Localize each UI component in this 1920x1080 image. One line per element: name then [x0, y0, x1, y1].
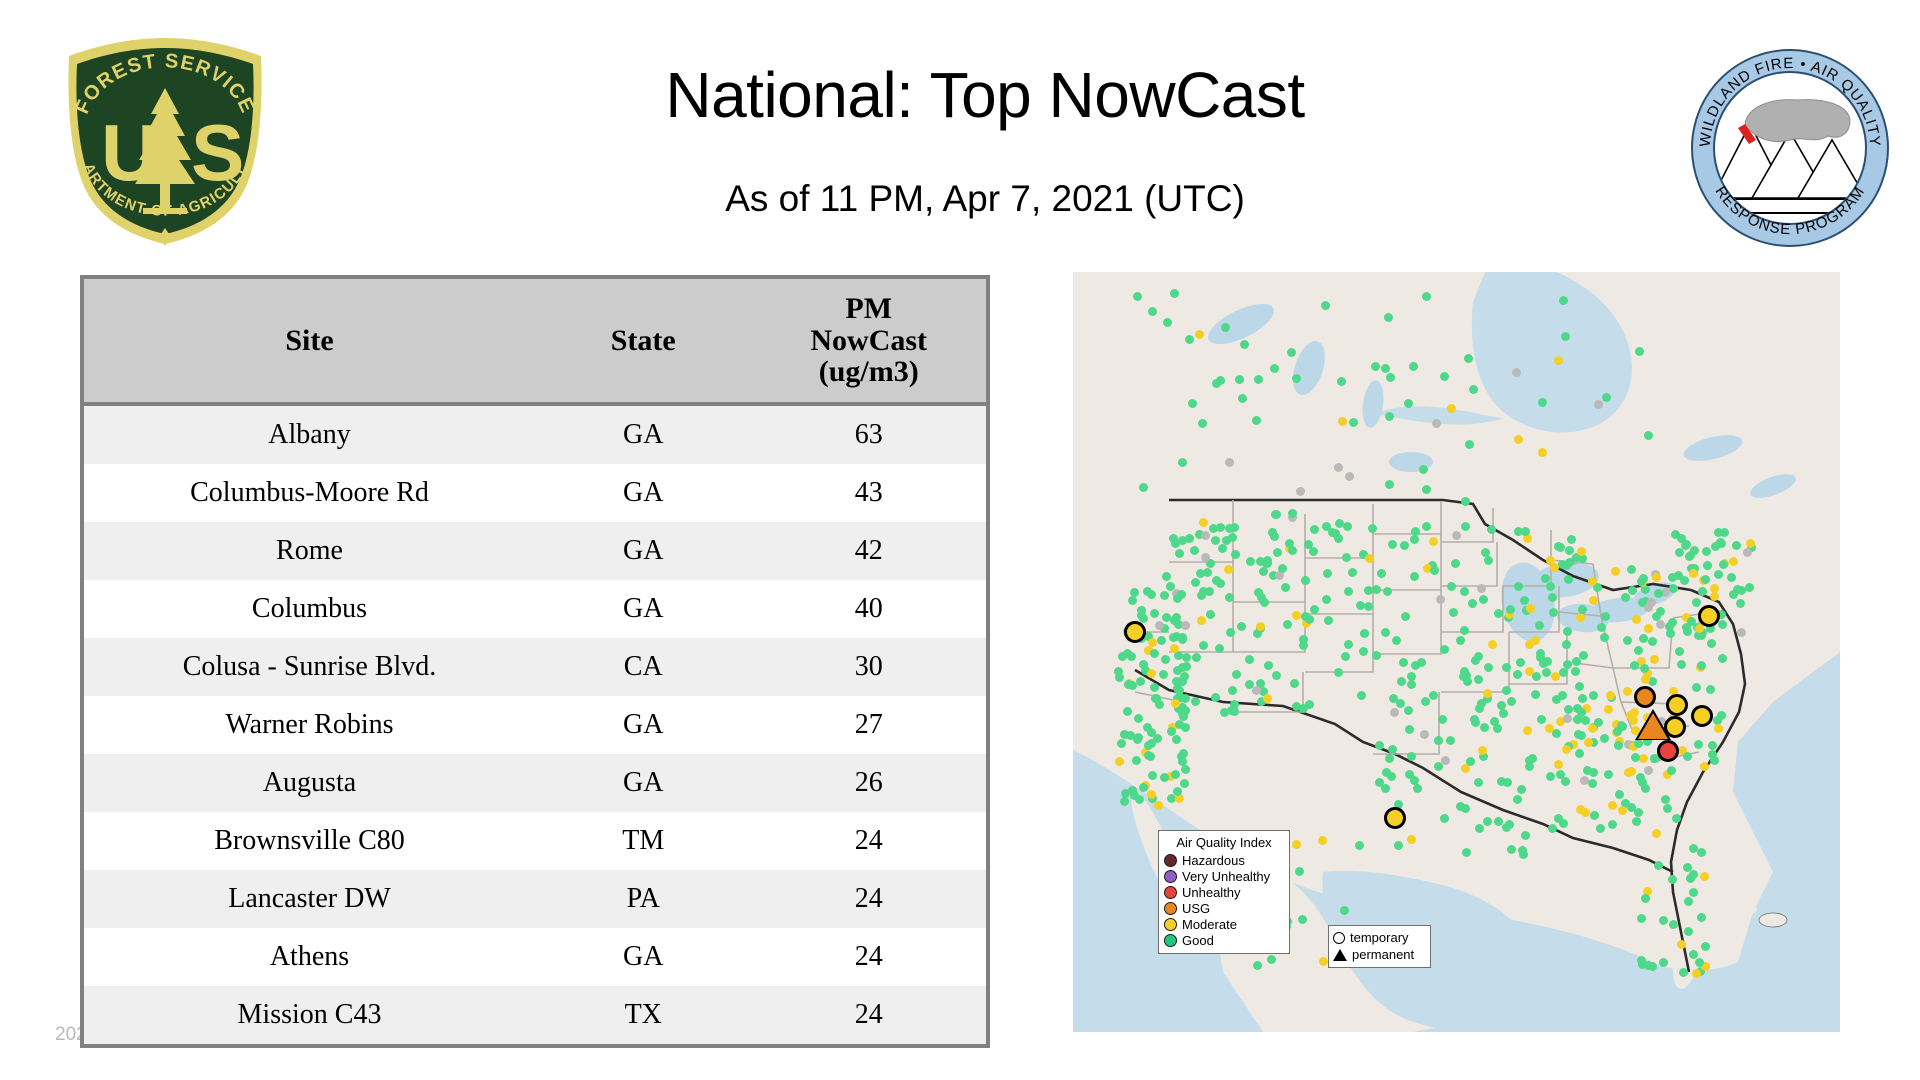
- aqi-swatch-icon: [1164, 934, 1177, 947]
- monitor-dot: [1700, 872, 1709, 881]
- monitor-dot: [1674, 571, 1683, 580]
- monitor-dot: [1689, 950, 1698, 959]
- monitor-dot: [1301, 612, 1310, 621]
- monitor-dot: [1565, 546, 1574, 555]
- monitor-dot: [1685, 552, 1694, 561]
- monitor-dot: [1461, 764, 1470, 773]
- monitor-dot: [1182, 662, 1191, 671]
- monitor-dot: [1516, 658, 1525, 667]
- monitor-dot: [1451, 559, 1460, 568]
- monitor-dot: [1181, 621, 1190, 630]
- monitor-dot: [1199, 518, 1208, 527]
- monitor-dot: [1381, 784, 1390, 793]
- monitor-dot: [1401, 612, 1410, 621]
- monitor-dot: [1562, 745, 1571, 754]
- monitor-dot: [1695, 958, 1704, 967]
- monitor-dot: [1285, 539, 1294, 548]
- monitor-dot: [1710, 592, 1719, 601]
- cell-site: Lancaster DW: [84, 870, 535, 928]
- monitor-dot: [1163, 318, 1172, 327]
- monitor-dot: [1571, 667, 1580, 676]
- monitor-dot: [1656, 620, 1665, 629]
- monitor-dot: [1394, 841, 1403, 850]
- monitor-dot: [1191, 697, 1200, 706]
- monitor-dot: [1388, 745, 1397, 754]
- aqi-legend-label: Very Unhealthy: [1182, 869, 1270, 884]
- monitor-dot: [1211, 536, 1220, 545]
- monitor-dot: [1228, 533, 1237, 542]
- table-row: AugustaGA26: [84, 754, 986, 812]
- monitor-dot: [1478, 746, 1487, 755]
- monitor-dot: [1167, 727, 1176, 736]
- cell-state: GA: [535, 580, 751, 638]
- monitor-dot: [1389, 694, 1398, 703]
- monitor-dot: [1203, 568, 1212, 577]
- monitor-dot: [1654, 861, 1663, 870]
- monitor-dot: [1288, 509, 1297, 518]
- monitor-dot: [1644, 624, 1653, 633]
- table-row: Colusa - Sunrise Blvd.CA30: [84, 638, 986, 696]
- monitor-dot: [1175, 720, 1184, 729]
- table-row: Brownsville C80TM24: [84, 812, 986, 870]
- monitor-dot: [1278, 564, 1287, 573]
- cell-pm-nowcast: 30: [751, 638, 986, 696]
- temporary-site-marker[interactable]: [1691, 705, 1713, 727]
- monitor-dot: [1606, 691, 1615, 700]
- monitor-dot: [1494, 817, 1503, 826]
- monitor-dot: [1372, 651, 1381, 660]
- monitor-dot: [1345, 472, 1354, 481]
- temporary-site-marker[interactable]: [1634, 686, 1656, 708]
- legend-row-temporary: temporary: [1333, 929, 1426, 946]
- monitor-dot: [1400, 541, 1409, 550]
- monitor-dot: [1434, 762, 1443, 771]
- monitor-dot: [1639, 634, 1648, 643]
- column-header-pm-line2: NowCast: [751, 325, 986, 357]
- monitor-dot: [1559, 668, 1568, 677]
- monitor-dot: [1669, 920, 1678, 929]
- monitor-dot: [1650, 655, 1659, 664]
- table-row: AlbanyGA63: [84, 404, 986, 464]
- monitor-dot: [1322, 522, 1331, 531]
- monitor-dot: [1597, 623, 1606, 632]
- table-row: AthensGA24: [84, 928, 986, 986]
- monitor-dot: [1237, 622, 1246, 631]
- monitor-dot: [1399, 658, 1408, 667]
- monitor-dot: [1139, 660, 1148, 669]
- temporary-site-marker[interactable]: [1664, 716, 1686, 738]
- cell-state: GA: [535, 928, 751, 986]
- cell-pm-nowcast: 24: [751, 928, 986, 986]
- monitor-dot: [1267, 955, 1276, 964]
- monitor-dot: [1714, 570, 1723, 579]
- monitor-dot: [1136, 677, 1145, 686]
- monitor-dot: [1344, 587, 1353, 596]
- monitor-dot: [1703, 561, 1712, 570]
- monitor-dot: [1490, 717, 1499, 726]
- aqi-swatch-icon: [1164, 854, 1177, 867]
- monitor-dot: [1322, 595, 1331, 604]
- monitor-dot: [1319, 957, 1328, 966]
- cell-state: GA: [535, 696, 751, 754]
- monitor-dot: [1737, 628, 1746, 637]
- monitor-dot: [1707, 639, 1716, 648]
- temporary-site-marker[interactable]: [1384, 807, 1406, 829]
- monitor-dot: [1422, 292, 1431, 301]
- us-air-quality-map[interactable]: Air Quality Index HazardousVery Unhealth…: [1073, 272, 1840, 1032]
- monitor-dot: [1290, 679, 1299, 688]
- monitor-dot: [1180, 779, 1189, 788]
- monitor-type-legend: temporary permanent: [1328, 925, 1431, 968]
- monitor-dot: [1590, 811, 1599, 820]
- aqi-legend-row: Unhealthy: [1164, 884, 1284, 900]
- monitor-dot: [1224, 565, 1233, 574]
- monitor-dot: [1197, 616, 1206, 625]
- monitor-dot: [1615, 790, 1624, 799]
- monitor-dot: [1365, 554, 1374, 563]
- monitor-dot: [1385, 754, 1394, 763]
- temporary-site-marker[interactable]: [1124, 621, 1146, 643]
- cell-pm-nowcast: 42: [751, 522, 986, 580]
- monitor-dot: [1567, 535, 1576, 544]
- monitor-dot: [1488, 640, 1497, 649]
- monitor-dot: [1263, 559, 1272, 568]
- column-header-pm-line1: PM: [751, 293, 986, 325]
- monitor-dot: [1621, 593, 1630, 602]
- monitor-dot: [1644, 431, 1653, 440]
- cell-site: Brownsville C80: [84, 812, 535, 870]
- aqi-swatch-icon: [1164, 886, 1177, 899]
- cell-pm-nowcast: 43: [751, 464, 986, 522]
- monitor-dot: [1656, 607, 1665, 616]
- monitor-dot: [1578, 694, 1587, 703]
- monitor-dot: [1151, 694, 1160, 703]
- monitor-dot: [1563, 627, 1572, 636]
- monitor-dot: [1641, 675, 1650, 684]
- top-nowcast-table: Site State PM NowCast (ug/m3) AlbanyGA63…: [84, 279, 986, 1044]
- monitor-dot: [1746, 539, 1755, 548]
- cell-state: PA: [535, 870, 751, 928]
- monitor-dot: [1368, 524, 1377, 533]
- monitor-dot: [1600, 734, 1609, 743]
- monitor-dot: [1298, 915, 1307, 924]
- aqi-legend-row: Good: [1164, 932, 1284, 948]
- monitor-dot: [1518, 846, 1527, 855]
- monitor-dot: [1334, 463, 1343, 472]
- monitor-dot: [1198, 419, 1207, 428]
- monitor-dot: [1659, 958, 1668, 967]
- monitor-dot: [1334, 668, 1343, 677]
- monitor-dot: [1413, 784, 1422, 793]
- monitor-dot: [1159, 670, 1168, 679]
- monitor-dot: [1272, 510, 1281, 519]
- monitor-dot: [1147, 790, 1156, 799]
- cell-state: GA: [535, 404, 751, 464]
- monitor-dot: [1689, 844, 1698, 853]
- cell-state: TM: [535, 812, 751, 870]
- permanent-monitor-icon: [1333, 949, 1347, 961]
- page-title: National: Top NowCast: [300, 58, 1670, 132]
- monitor-dot: [1114, 667, 1123, 676]
- monitor-dot: [1447, 404, 1456, 413]
- monitor-dot: [1623, 636, 1632, 645]
- table-header: Site State PM NowCast (ug/m3): [84, 279, 986, 404]
- monitor-dot: [1349, 418, 1358, 427]
- monitor-dot: [1420, 730, 1429, 739]
- monitor-dot: [1181, 765, 1190, 774]
- aqi-legend-label: Good: [1182, 933, 1214, 948]
- column-header-site: Site: [84, 279, 535, 404]
- temporary-monitor-icon: [1333, 932, 1345, 944]
- monitor-dot: [1661, 795, 1670, 804]
- monitor-dot: [1652, 573, 1661, 582]
- monitor-dot: [1718, 654, 1727, 663]
- cell-site: Rome: [84, 522, 535, 580]
- cell-site: Athens: [84, 928, 535, 986]
- monitor-dot: [1178, 458, 1187, 467]
- monitor-dot: [1639, 574, 1648, 583]
- monitor-dot: [1684, 897, 1693, 906]
- monitor-dot: [1604, 770, 1613, 779]
- aqi-swatch-icon: [1164, 918, 1177, 931]
- aqi-swatch-icon: [1164, 902, 1177, 915]
- cell-state: CA: [535, 638, 751, 696]
- monitor-dot: [1245, 680, 1254, 689]
- monitor-dot: [1388, 540, 1397, 549]
- monitor-dot: [1176, 677, 1185, 686]
- monitor-dot: [1117, 739, 1126, 748]
- monitor-dot: [1698, 587, 1707, 596]
- monitor-dot: [1559, 296, 1568, 305]
- monitor-dot: [1632, 817, 1641, 826]
- monitor-dot: [1195, 330, 1204, 339]
- aqi-legend-row: Hazardous: [1164, 852, 1284, 868]
- monitor-dot: [1548, 593, 1557, 602]
- wildland-fire-air-quality-program-logo: WILDLAND FIRE • AIR QUALITY RESPONSE PRO…: [1690, 48, 1890, 248]
- monitor-dot: [1729, 557, 1738, 566]
- monitor-dot: [1659, 916, 1668, 925]
- cell-pm-nowcast: 24: [751, 986, 986, 1044]
- monitor-dot: [1469, 385, 1478, 394]
- aqi-swatch-icon: [1164, 870, 1177, 883]
- cell-pm-nowcast: 40: [751, 580, 986, 638]
- table-header-row: Site State PM NowCast (ug/m3): [84, 279, 986, 404]
- monitor-dot: [1521, 831, 1530, 840]
- cell-pm-nowcast: 26: [751, 754, 986, 812]
- monitor-dot: [1211, 693, 1220, 702]
- monitor-dot: [1133, 292, 1142, 301]
- monitor-dot: [1480, 723, 1489, 732]
- aqi-legend-label: USG: [1182, 901, 1210, 916]
- cell-state: GA: [535, 754, 751, 812]
- monitor-dot: [1299, 704, 1308, 713]
- monitor-dot: [1123, 707, 1132, 716]
- monitor-dot: [1484, 556, 1493, 565]
- monitor-dot: [1343, 522, 1352, 531]
- monitor-dot: [1468, 599, 1477, 608]
- page-header: FOREST SERVICE U S DEPARTMENT OF AGRICUL…: [0, 0, 1920, 265]
- monitor-dot: [1563, 714, 1572, 723]
- monitor-dot: [1521, 527, 1530, 536]
- aqi-legend-label: Moderate: [1182, 917, 1237, 932]
- column-header-pm-line3: (ug/m3): [751, 356, 986, 388]
- monitor-dot: [1484, 663, 1493, 672]
- monitor-dot: [1192, 653, 1201, 662]
- cell-pm-nowcast: 27: [751, 696, 986, 754]
- monitor-dot: [1551, 672, 1560, 681]
- monitor-dot: [1292, 611, 1301, 620]
- monitor-dot: [1133, 735, 1142, 744]
- monitor-dot: [1637, 914, 1646, 923]
- monitor-dot: [1594, 718, 1603, 727]
- monitor-dot: [1359, 647, 1368, 656]
- monitor-dot: [1461, 497, 1470, 506]
- monitor-dot: [1323, 569, 1332, 578]
- monitor-dot: [1623, 687, 1632, 696]
- monitor-dot: [1679, 968, 1688, 977]
- monitor-dot: [1231, 550, 1240, 559]
- monitor-dot: [1538, 448, 1547, 457]
- monitor-dot: [1474, 652, 1483, 661]
- monitor-dot: [1338, 417, 1347, 426]
- monitor-dot: [1697, 848, 1706, 857]
- cell-state: GA: [535, 464, 751, 522]
- monitor-dot: [1430, 566, 1439, 575]
- monitor-dot: [1588, 779, 1597, 788]
- monitor-dot: [1409, 362, 1418, 371]
- monitor-dot: [1218, 544, 1227, 553]
- table-row: Columbus-Moore RdGA43: [84, 464, 986, 522]
- monitor-dot: [1421, 697, 1430, 706]
- monitor-dot: [1310, 525, 1319, 534]
- monitor-dot: [1561, 332, 1570, 341]
- monitor-dot: [1506, 605, 1515, 614]
- monitor-dot: [1589, 596, 1598, 605]
- monitor-dot: [1381, 364, 1390, 373]
- monitor-dot: [1144, 741, 1153, 750]
- page-subtitle: As of 11 PM, Apr 7, 2021 (UTC): [300, 178, 1670, 220]
- monitor-dot: [1718, 620, 1727, 629]
- monitor-dot: [1456, 636, 1465, 645]
- monitor-dot: [1588, 577, 1597, 586]
- monitor-dot: [1639, 754, 1648, 763]
- aqi-legend-row: Moderate: [1164, 916, 1284, 932]
- monitor-dot: [1206, 610, 1215, 619]
- monitor-dot: [1452, 531, 1461, 540]
- monitor-dot: [1201, 553, 1210, 562]
- monitor-dot: [1310, 605, 1319, 614]
- table-row: Lancaster DWPA24: [84, 870, 986, 928]
- monitor-dot: [1507, 845, 1516, 854]
- monitor-dot: [1226, 628, 1235, 637]
- monitor-dot: [1422, 522, 1431, 531]
- monitor-dot: [1539, 659, 1548, 668]
- monitor-dot: [1562, 640, 1571, 649]
- monitor-dot: [1411, 661, 1420, 670]
- monitor-dot: [1139, 483, 1148, 492]
- monitor-dot: [1135, 795, 1144, 804]
- monitor-dot: [1583, 766, 1592, 775]
- monitor-dot: [1227, 706, 1236, 715]
- monitor-dot: [1719, 560, 1728, 569]
- monitor-dot: [1172, 735, 1181, 744]
- monitor-dot: [1640, 664, 1649, 673]
- table-row: RomeGA42: [84, 522, 986, 580]
- monitor-dot: [1392, 636, 1401, 645]
- temporary-site-marker[interactable]: [1698, 605, 1720, 627]
- monitor-dot: [1419, 465, 1428, 474]
- cell-site: Columbus: [84, 580, 535, 638]
- monitor-dot: [1128, 786, 1137, 795]
- monitor-dot: [1708, 750, 1717, 759]
- monitor-dot: [1173, 787, 1182, 796]
- legend-label-temporary: temporary: [1350, 930, 1409, 945]
- column-header-pm-nowcast: PM NowCast (ug/m3): [751, 279, 986, 404]
- cell-pm-nowcast: 63: [751, 404, 986, 464]
- monitor-dot: [1463, 677, 1472, 686]
- top-nowcast-table-panel: Site State PM NowCast (ug/m3) AlbanyGA63…: [80, 275, 990, 1048]
- monitor-dot: [1169, 633, 1178, 642]
- monitor-dot: [1628, 586, 1637, 595]
- monitor-dot: [1474, 778, 1483, 787]
- monitor-dot: [1684, 927, 1693, 936]
- monitor-dot: [1118, 652, 1127, 661]
- monitor-dot: [1627, 565, 1636, 574]
- monitor-dot: [1502, 686, 1511, 695]
- aqi-legend-row: USG: [1164, 900, 1284, 916]
- monitor-dot: [1372, 585, 1381, 594]
- monitor-dot: [1512, 368, 1521, 377]
- monitor-dot: [1143, 587, 1152, 596]
- monitor-dot: [1668, 875, 1677, 884]
- monitor-dot: [1264, 661, 1273, 670]
- monitor-dot: [1436, 595, 1445, 604]
- monitor-dot: [1475, 824, 1484, 833]
- monitor-dot: [1240, 340, 1249, 349]
- monitor-dot: [1584, 738, 1593, 747]
- monitor-dot: [1711, 542, 1720, 551]
- cell-state: TX: [535, 986, 751, 1044]
- monitor-dot: [1701, 942, 1710, 951]
- aqi-legend-rows: HazardousVery UnhealthyUnhealthyUSGModer…: [1164, 852, 1284, 948]
- monitor-dot: [1575, 682, 1584, 691]
- monitor-dot: [1407, 680, 1416, 689]
- monitor-dot: [1537, 715, 1546, 724]
- monitor-dot: [1232, 670, 1241, 679]
- aqi-legend-row: Very Unhealthy: [1164, 868, 1284, 884]
- monitor-dot: [1548, 824, 1557, 833]
- monitor-dot: [1150, 683, 1159, 692]
- monitor-dot: [1253, 961, 1262, 970]
- monitor-dot: [1281, 583, 1290, 592]
- monitor-dot: [1503, 778, 1512, 787]
- column-header-state: State: [535, 279, 751, 404]
- table-row: Mission C43TX24: [84, 986, 986, 1044]
- monitor-dot: [1157, 636, 1166, 645]
- monitor-dot: [1634, 808, 1643, 817]
- monitor-dot: [1677, 940, 1686, 949]
- monitor-dot: [1228, 686, 1237, 695]
- monitor-dot: [1538, 398, 1547, 407]
- monitor-dot: [1546, 556, 1555, 565]
- monitor-dot: [1172, 613, 1181, 622]
- cell-site: Mission C43: [84, 986, 535, 1044]
- monitor-dot: [1666, 629, 1675, 638]
- temporary-site-marker[interactable]: [1657, 740, 1679, 762]
- monitor-dot: [1683, 752, 1692, 761]
- monitor-dot: [1115, 757, 1124, 766]
- monitor-dot: [1216, 579, 1225, 588]
